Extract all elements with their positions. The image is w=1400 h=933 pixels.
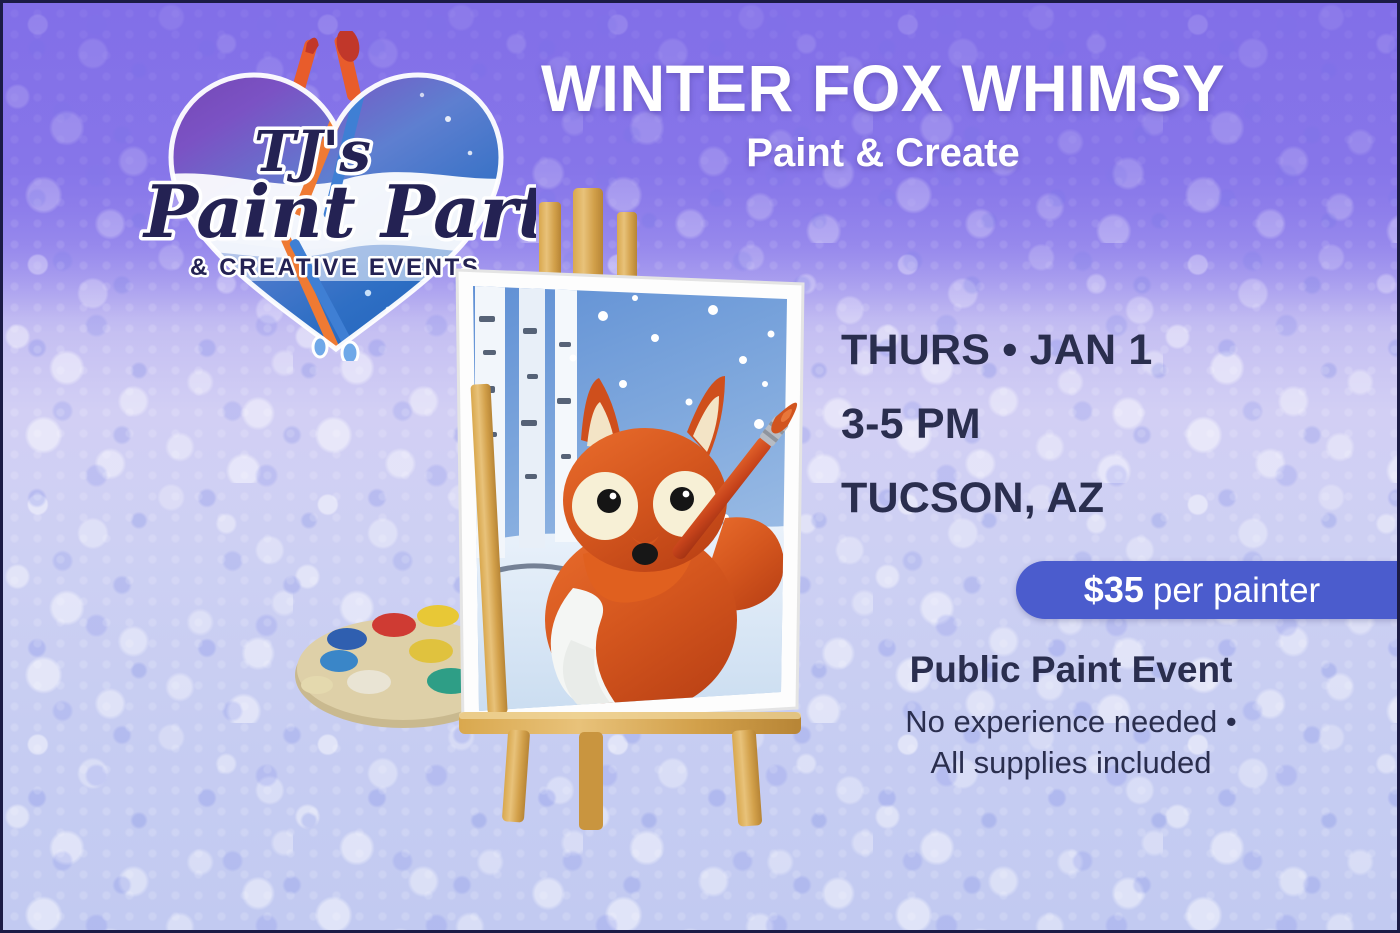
footer-heading: Public Paint Event [841,651,1301,688]
header-block: WINTER FOX WHIMSY Paint & Create [473,55,1293,173]
artwork-photo [273,188,893,838]
price-badge[interactable]: $35 per painter [1016,561,1400,619]
footer-line-2: All supplies included [841,743,1301,784]
footer-block: Public Paint Event No experience needed … [841,651,1301,784]
footer-line-1: No experience needed • [841,702,1301,743]
price-amount: $35 [1084,572,1144,608]
event-flyer: TJ's Paint Parties & CREATIVE EVENTS WIN… [0,0,1400,933]
event-time: 3-5 PM [841,403,1361,446]
event-subtitle: Paint & Create [473,133,1293,173]
event-date: THURS • JAN 1 [841,329,1361,372]
event-details-block: THURS • JAN 1 3-5 PM TUCSON, AZ [841,329,1361,520]
price-unit: per painter [1153,573,1320,608]
logo-paintbrush-right-icon [333,31,362,102]
canvas-painting [457,270,803,728]
event-location: TUCSON, AZ [841,477,1361,520]
event-title: WINTER FOX WHIMSY [489,55,1276,121]
